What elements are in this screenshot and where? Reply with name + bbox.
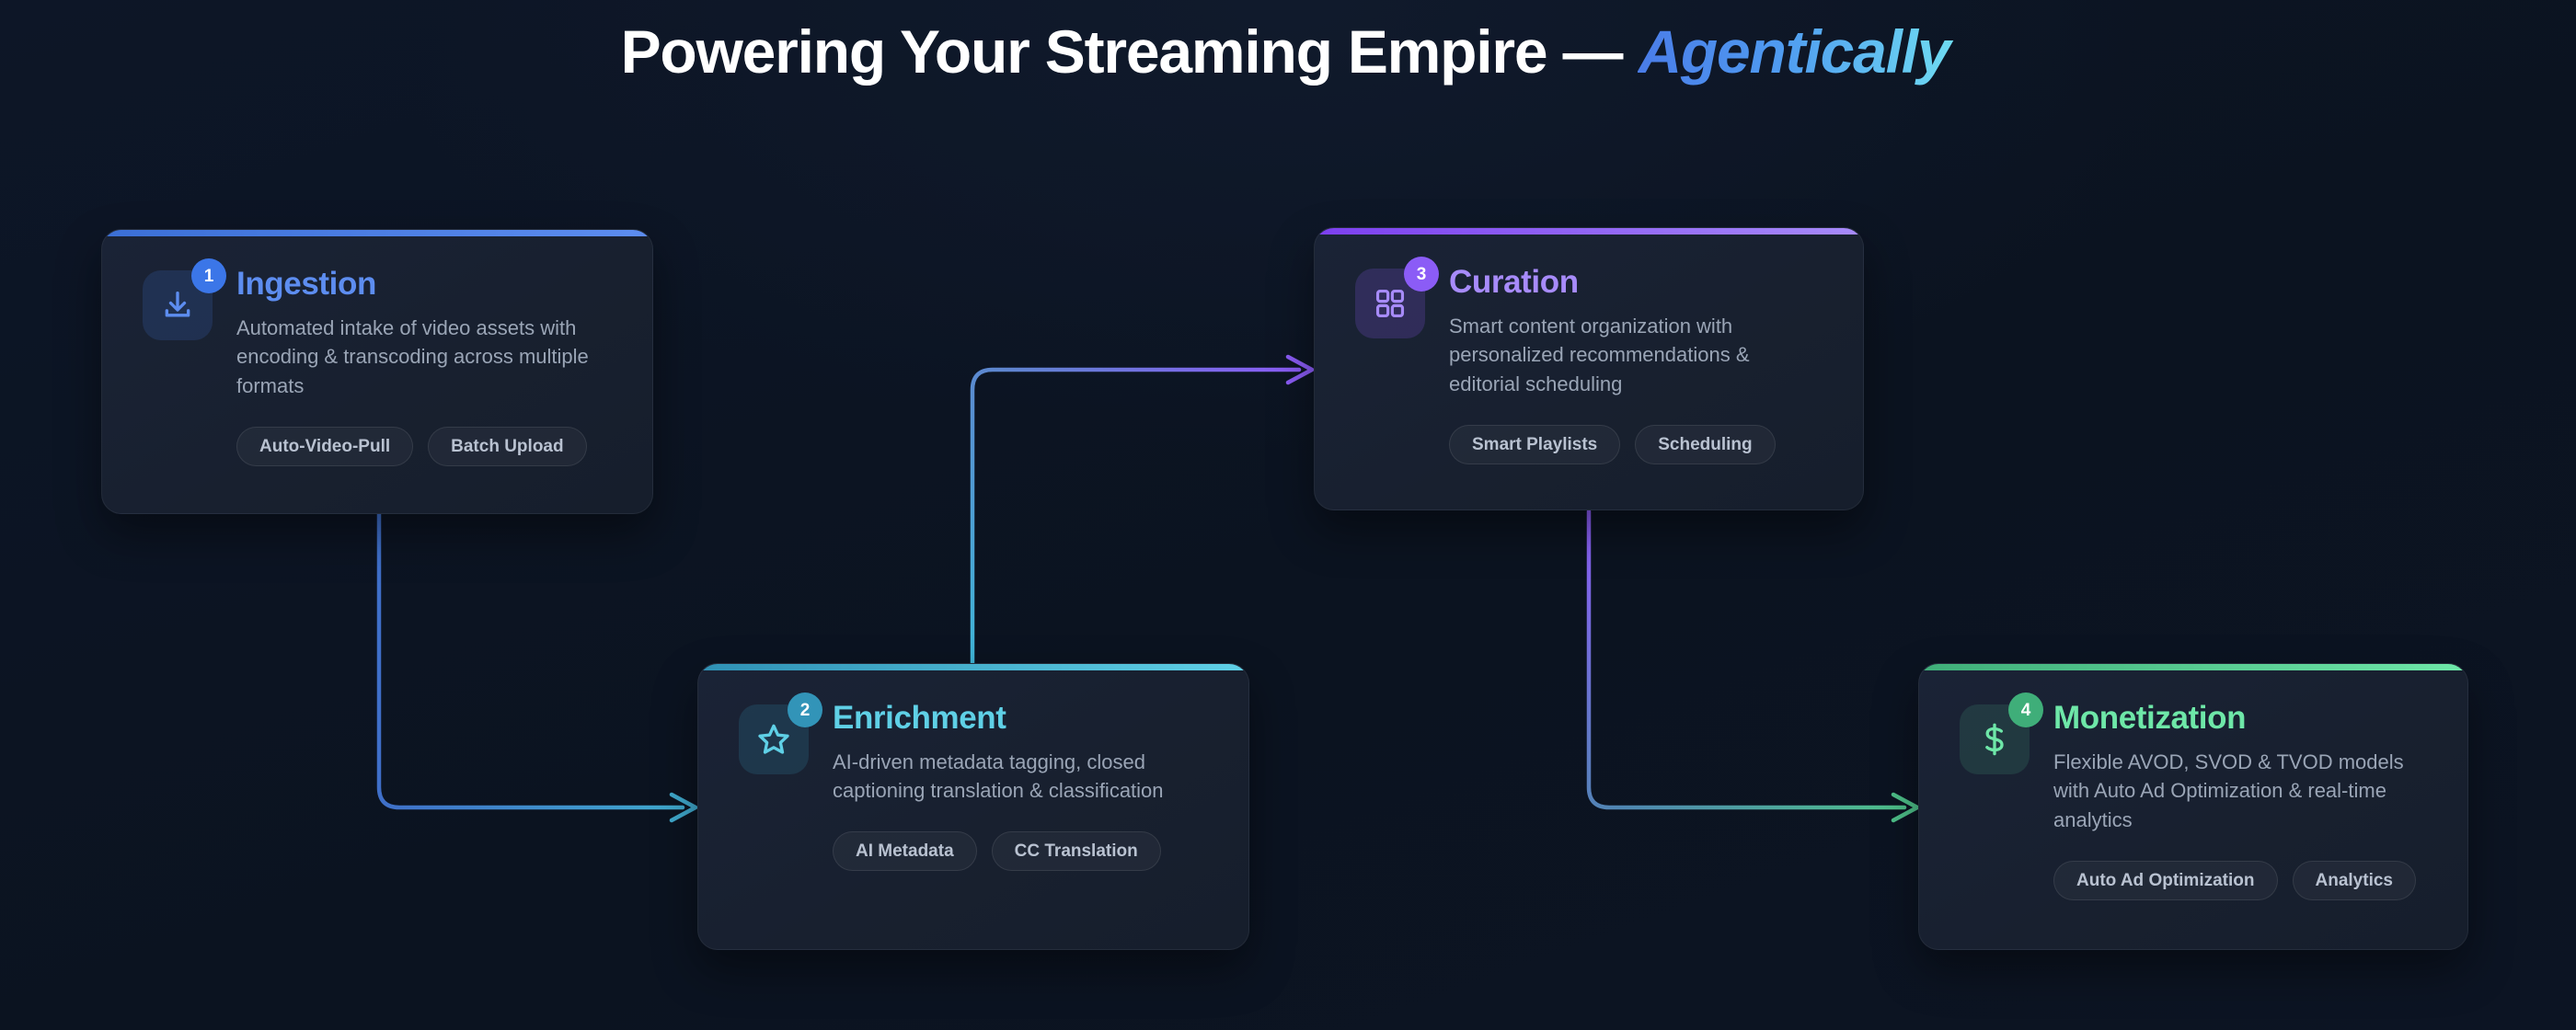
card-accent-bar xyxy=(1315,228,1863,235)
card-description: AI-driven metadata tagging, closed capti… xyxy=(833,748,1208,807)
step-badge: 3 xyxy=(1404,257,1439,292)
card-tag[interactable]: Batch Upload xyxy=(428,427,586,466)
card-tag[interactable]: AI Metadata xyxy=(833,831,977,871)
connector-curation-to-monetization xyxy=(1589,511,1917,820)
card-title: Ingestion xyxy=(236,267,612,303)
pipeline-card-monetization[interactable]: 4 Monetization Flexible AVOD, SVOD & TVO… xyxy=(1918,663,2468,950)
connector-ingestion-to-enrichment xyxy=(379,513,696,820)
card-tag-list: Auto Ad Optimization Analytics xyxy=(2053,861,2427,900)
card-description: Smart content organization with personal… xyxy=(1449,312,1823,400)
card-accent-bar xyxy=(1919,664,2467,670)
pipeline-flow-diagram: 1 Ingestion Automated intake of video as… xyxy=(0,0,2576,1030)
card-tag[interactable]: Analytics xyxy=(2293,861,2416,900)
step-badge: 4 xyxy=(2008,692,2043,727)
pipeline-card-curation[interactable]: 3 Curation Smart content organization wi… xyxy=(1314,227,1864,510)
connector-enrichment-to-curation xyxy=(972,357,1312,664)
card-tag[interactable]: Smart Playlists xyxy=(1449,425,1620,464)
card-accent-bar xyxy=(102,230,652,236)
card-icon-wrap: 4 xyxy=(1960,704,2030,774)
card-tag[interactable]: Scheduling xyxy=(1635,425,1775,464)
card-icon-wrap: 2 xyxy=(739,704,809,774)
pipeline-card-ingestion[interactable]: 1 Ingestion Automated intake of video as… xyxy=(101,229,653,514)
card-icon-wrap: 1 xyxy=(143,270,213,340)
card-title: Enrichment xyxy=(833,701,1208,737)
pipeline-card-enrichment[interactable]: 2 Enrichment AI-driven metadata tagging,… xyxy=(697,663,1249,950)
card-tag[interactable]: CC Translation xyxy=(992,831,1161,871)
card-accent-bar xyxy=(698,664,1248,670)
card-tag[interactable]: Auto Ad Optimization xyxy=(2053,861,2278,900)
card-description: Automated intake of video assets with en… xyxy=(236,314,612,402)
card-tag-list: Auto-Video-Pull Batch Upload xyxy=(236,427,612,466)
step-badge: 2 xyxy=(788,692,822,727)
card-tag-list: AI Metadata CC Translation xyxy=(833,831,1208,871)
card-title: Monetization xyxy=(2053,701,2427,737)
step-badge: 1 xyxy=(191,258,226,293)
card-icon-wrap: 3 xyxy=(1355,269,1425,338)
card-tag[interactable]: Auto-Video-Pull xyxy=(236,427,413,466)
card-title: Curation xyxy=(1449,265,1823,301)
card-tag-list: Smart Playlists Scheduling xyxy=(1449,425,1823,464)
card-description: Flexible AVOD, SVOD & TVOD models with A… xyxy=(2053,748,2427,836)
